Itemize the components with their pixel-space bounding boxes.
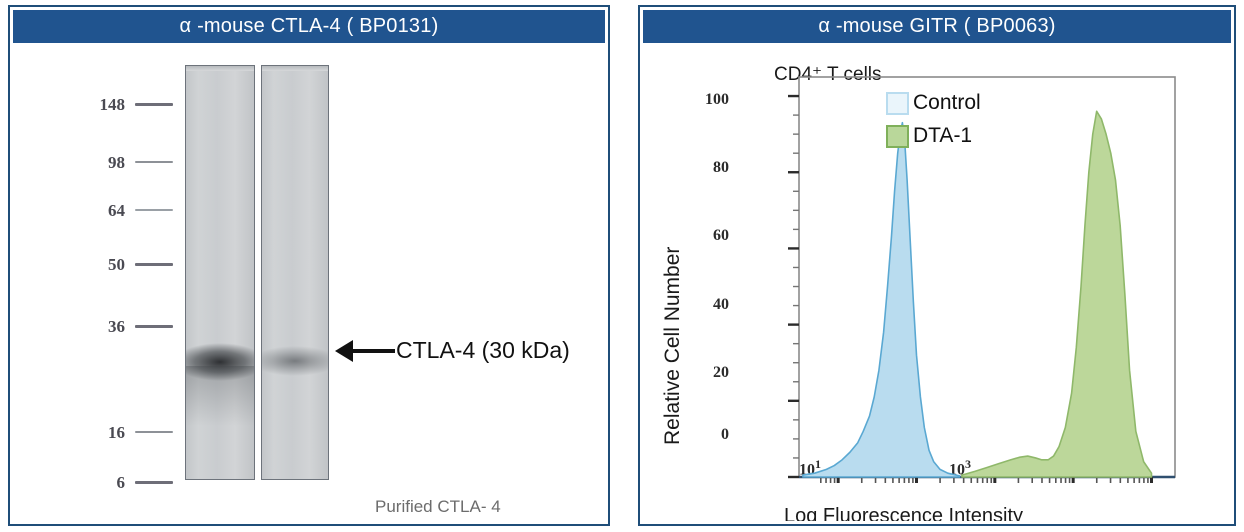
arrow-head-icon — [335, 340, 353, 362]
panel-header-ctla4-title: α -mouse CTLA-4 ( BP0131) — [180, 15, 439, 38]
panel-gitr-flow-cytometry: α -mouse GITR ( BP0063) CD4⁺ T cells Rel… — [638, 5, 1236, 526]
blot-lane-1 — [185, 65, 255, 480]
legend-label-control: Control — [913, 91, 981, 115]
mw-marker-6-label: 6 — [79, 473, 125, 493]
legend-item-control: Control — [886, 91, 981, 115]
mw-marker-98-dash — [135, 161, 173, 163]
mw-marker-64-dash — [135, 209, 173, 211]
blot-lane-1-smear — [186, 366, 254, 426]
blot-lane-2-band-ctla4 — [262, 344, 328, 378]
y-tick-0: 0 — [689, 426, 729, 444]
mw-marker-64-label: 64 — [79, 201, 125, 221]
flow-histogram-chart: CD4⁺ T cells Relative Cell Number Log Fl… — [643, 45, 1231, 521]
legend-item-dta1: DTA-1 — [886, 124, 981, 148]
arrow-shaft — [353, 349, 395, 353]
y-tick-100: 100 — [689, 91, 729, 109]
mw-marker-50-label: 50 — [79, 255, 125, 275]
y-tick-60: 60 — [689, 227, 729, 245]
panel-header-ctla4: α -mouse CTLA-4 ( BP0131) — [13, 10, 605, 43]
x-axis-label: Log Fluorescence Intensity — [784, 505, 1023, 521]
legend-swatch-dta1 — [886, 125, 909, 148]
y-tick-40: 40 — [689, 296, 729, 314]
blot-lane-2 — [261, 65, 329, 480]
blot-lane-1-top-edge — [186, 66, 254, 71]
mw-marker-148-label: 148 — [79, 95, 125, 115]
legend-label-dta1: DTA-1 — [913, 124, 972, 148]
y-axis-label: Relative Cell Number — [661, 247, 685, 445]
panel-header-gitr: α -mouse GITR ( BP0063) — [643, 10, 1231, 43]
band-annotation-label: CTLA-4 (30 kDa) — [396, 337, 570, 364]
mw-marker-36-dash — [135, 325, 173, 328]
panel-header-gitr-title: α -mouse GITR ( BP0063) — [818, 15, 1055, 38]
mw-marker-16-dash — [135, 431, 173, 433]
mw-marker-98-label: 98 — [79, 153, 125, 173]
band-annotation-arrow: CTLA-4 (30 kDa) — [335, 337, 570, 364]
legend-swatch-control — [886, 92, 909, 115]
mw-marker-50-dash — [135, 263, 173, 266]
chart-legend: Control DTA-1 — [886, 91, 981, 157]
panel-body-ctla4: 148 98 64 50 36 16 6 — [13, 45, 605, 521]
mw-marker-6-dash — [135, 481, 173, 484]
mw-marker-36-label: 36 — [79, 317, 125, 337]
y-tick-20: 20 — [689, 364, 729, 382]
mw-marker-148-dash — [135, 103, 173, 106]
y-tick-80: 80 — [689, 159, 729, 177]
mw-marker-16-label: 16 — [79, 423, 125, 443]
blot-caption: Purified CTLA- 4 — [375, 497, 501, 517]
panel-body-gitr: CD4⁺ T cells Relative Cell Number Log Fl… — [643, 45, 1231, 521]
blot-lane-2-top-edge — [262, 66, 328, 71]
figure-root: α -mouse CTLA-4 ( BP0131) 148 98 64 50 3… — [0, 0, 1244, 532]
panel-ctla4-western-blot: α -mouse CTLA-4 ( BP0131) 148 98 64 50 3… — [8, 5, 610, 526]
